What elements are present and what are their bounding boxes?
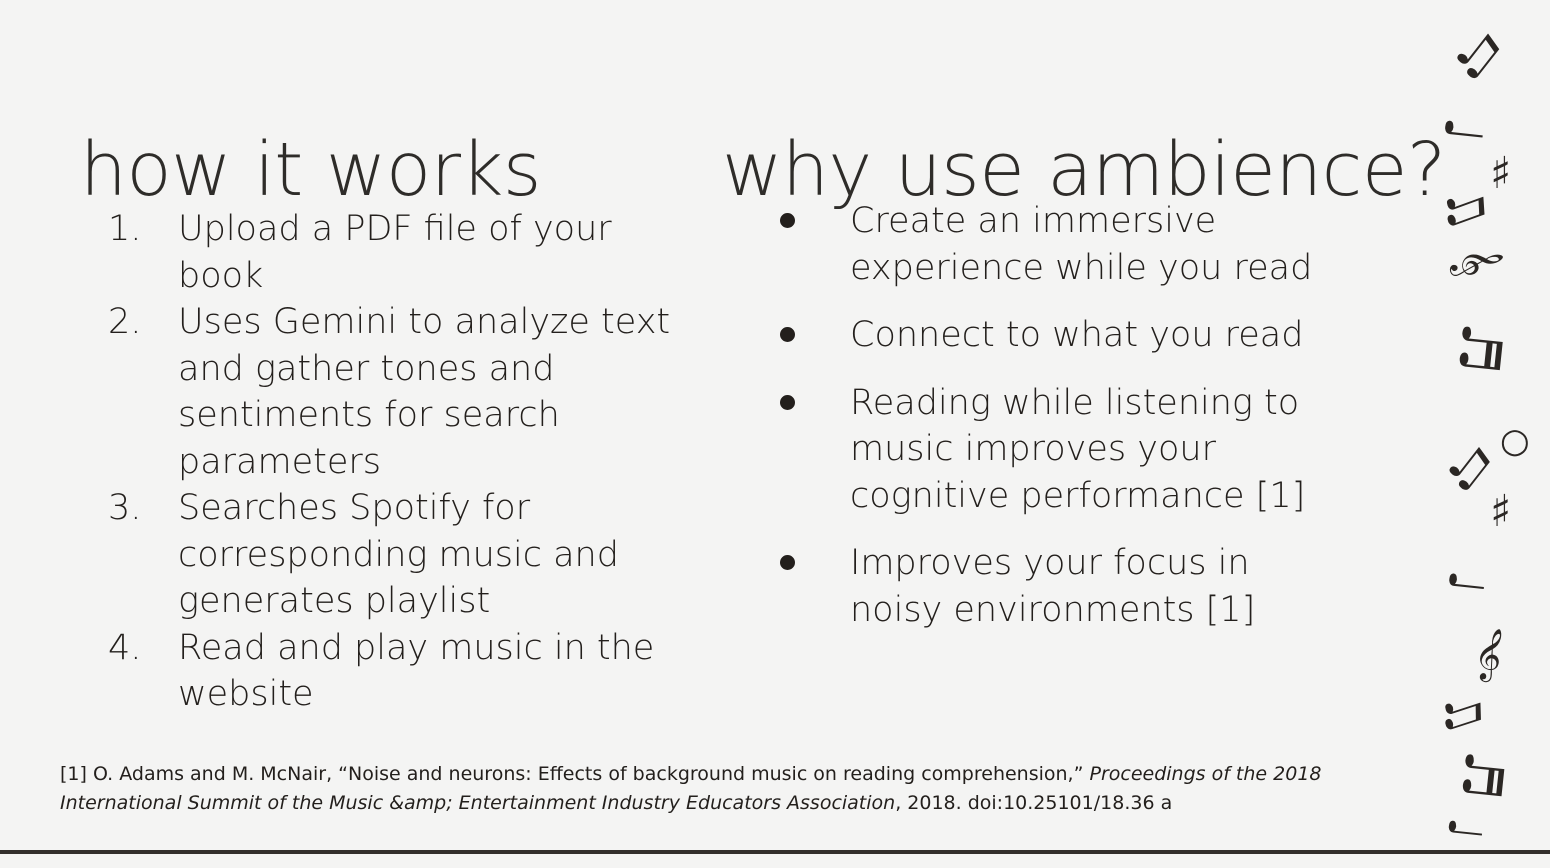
slide-canvas: how it works why use ambience? 1.Upload … [0, 0, 1550, 868]
how-it-works-step: 1.Upload a PDF file of your book [96, 206, 696, 299]
quarter-note-icon: ♩ [1440, 568, 1490, 596]
treble-clef-icon: 𝄞 [1452, 241, 1504, 281]
bottom-divider-rule [0, 850, 1550, 854]
bullet-dot-icon [780, 198, 850, 228]
how-it-works-step: 3.Searches Spotify for corresponding mus… [96, 485, 696, 625]
ambience-reason: Improves your focus in noisy environment… [780, 540, 1350, 633]
whole-note-icon: ○ [1500, 424, 1530, 458]
how-it-works-step: 2.Uses Gemini to analyze text and gather… [96, 299, 696, 485]
step-text: Upload a PDF file of your book [178, 206, 696, 299]
bullet-dot-icon [780, 540, 850, 570]
why-use-ambience-column: Create an immersive experience while you… [780, 198, 1350, 633]
reason-text: Improves your focus in noisy environment… [850, 540, 1350, 633]
step-number: 4. [96, 625, 178, 672]
quarter-note-icon: ♩ [1441, 816, 1489, 842]
citation-suffix: , 2018. doi:10.25101/18.36 a [895, 792, 1172, 814]
why-use-ambience-bullet-list: Create an immersive experience while you… [780, 198, 1350, 633]
sixteenth-note-icon: ♬ [1449, 320, 1510, 376]
step-text: Read and play music in the website [178, 625, 696, 718]
how-it-works-ordered-list: 1.Upload a PDF file of your book2.Uses G… [96, 206, 696, 718]
step-text: Searches Spotify for corresponding music… [178, 485, 696, 625]
beamed-eighth-notes-icon: ♫ [1434, 684, 1493, 740]
step-number: 3. [96, 485, 178, 532]
sharp-sign-icon: ♯ [1490, 490, 1511, 534]
sharp-sign-icon: ♯ [1490, 152, 1511, 196]
beamed-sixteenth-notes-icon: ♫ [1443, 17, 1514, 89]
sixteenth-note-icon: ♬ [1453, 748, 1512, 802]
section-heading-why-use-ambience: why use ambience? [722, 133, 1446, 207]
how-it-works-column: 1.Upload a PDF file of your book2.Uses G… [96, 206, 696, 718]
reason-text: Reading while listening to music improve… [850, 380, 1350, 520]
ambience-reason: Create an immersive experience while you… [780, 198, 1350, 291]
reason-text: Connect to what you read [850, 312, 1350, 359]
citation-reference: [1] O. Adams and M. McNair, “Noise and n… [60, 760, 1420, 818]
beamed-sixteenth-notes-icon: ♫ [1435, 431, 1504, 501]
treble-clef-icon: 𝄞 [1471, 627, 1509, 678]
citation-prefix: [1] O. Adams and M. McNair, “Noise and n… [60, 763, 1089, 785]
bullet-dot-icon [780, 312, 850, 342]
ambience-reason: Reading while listening to music improve… [780, 380, 1350, 520]
step-number: 1. [96, 206, 178, 253]
ambience-reason: Connect to what you read [780, 312, 1350, 359]
step-text: Uses Gemini to analyze text and gather t… [178, 299, 696, 485]
section-heading-how-it-works: how it works [80, 133, 541, 207]
step-number: 2. [96, 299, 178, 346]
decorative-music-notes-strip: ♫♩♯♫𝄞♬○♫♯♩𝄞♫♬♩ [1440, 0, 1550, 868]
how-it-works-step: 4.Read and play music in the website [96, 625, 696, 718]
reason-text: Create an immersive experience while you… [850, 198, 1350, 291]
bullet-dot-icon [780, 380, 850, 410]
